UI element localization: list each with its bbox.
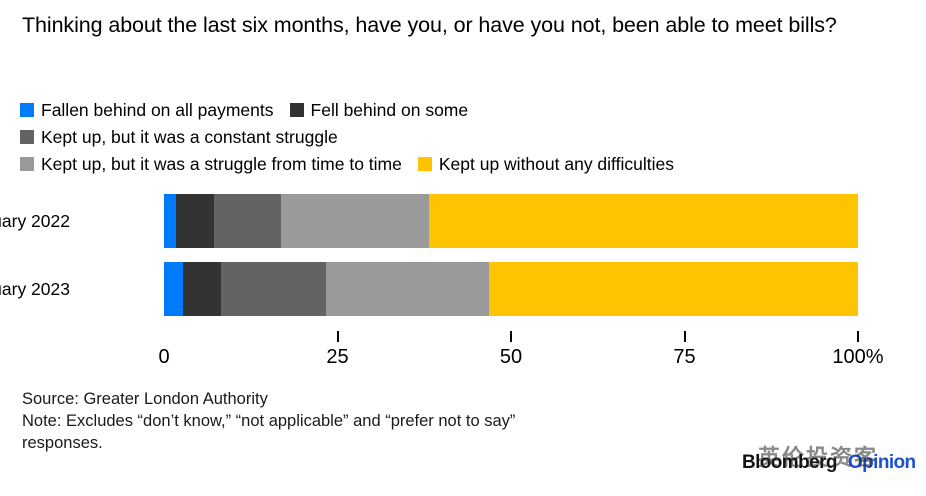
brand-mark: Bloomberg Opinion 英伦投资客 (742, 448, 922, 480)
legend-item-fallen-behind-all[interactable]: Fallen behind on all payments (20, 100, 274, 120)
note-text-line-1: Note: Excludes “don’t know,” “not applic… (22, 410, 662, 432)
stacked-bar (164, 194, 858, 248)
legend-item-label: Kept up, but it was a struggle from time… (41, 154, 402, 174)
bar-segment (221, 262, 326, 316)
x-axis-tick (684, 331, 686, 342)
legend-swatch-icon (290, 103, 304, 117)
legend-item-label: Fallen behind on all payments (41, 100, 274, 120)
bar-segment (164, 262, 183, 316)
x-axis-tick (337, 331, 339, 342)
bar-segment (183, 262, 221, 316)
x-axis-tick (857, 331, 859, 342)
bar-segment (214, 194, 281, 248)
legend-swatch-icon (20, 103, 34, 117)
x-axis-tick-label: 50 (500, 345, 522, 369)
chart-footnotes: Source: Greater London Authority Note: E… (22, 388, 662, 454)
chart-legend: Fallen behind on all paymentsFell behind… (20, 96, 910, 177)
bar-segment (164, 194, 176, 248)
legend-item-fell-behind-some[interactable]: Fell behind on some (290, 100, 469, 120)
legend-row: Kept up, but it was a struggle from time… (20, 150, 910, 177)
x-axis-tick-label: 25 (326, 345, 348, 369)
legend-swatch-icon (20, 130, 34, 144)
bar-segment (429, 194, 858, 248)
x-axis-tick-label: 100% (832, 345, 883, 369)
legend-swatch-icon (418, 157, 432, 171)
page-title: Thinking about the last six months, have… (22, 10, 902, 40)
bar-segment (176, 194, 214, 248)
bar-segment (281, 194, 429, 248)
bar-segment (489, 262, 858, 316)
category-label: January 2022 (0, 211, 70, 231)
x-axis-tick-label: 75 (673, 345, 695, 369)
x-axis-tick (510, 331, 512, 342)
note-text-line-2: responses. (22, 432, 662, 454)
legend-swatch-icon (20, 157, 34, 171)
legend-item-sometimes-struggle[interactable]: Kept up, but it was a struggle from time… (20, 154, 402, 174)
stacked-bar (164, 262, 858, 316)
legend-item-no-difficulties[interactable]: Kept up without any difficulties (418, 154, 674, 174)
legend-item-constant-struggle[interactable]: Kept up, but it was a constant struggle (20, 127, 338, 147)
legend-row: Kept up, but it was a constant struggle (20, 123, 910, 150)
legend-item-label: Kept up, but it was a constant struggle (41, 127, 338, 147)
legend-row: Fallen behind on all paymentsFell behind… (20, 96, 910, 123)
chinese-watermark: 英伦投资客 (758, 440, 878, 472)
x-axis: 0255075100% (164, 331, 858, 371)
legend-item-label: Fell behind on some (311, 100, 469, 120)
bar-segment (326, 262, 490, 316)
legend-item-label: Kept up without any difficulties (439, 154, 674, 174)
source-text: Source: Greater London Authority (22, 388, 662, 410)
plot-area: January 2022January 2023 (0, 185, 926, 335)
x-axis-tick-label: 0 (158, 345, 169, 369)
category-label: January 2023 (0, 279, 70, 299)
